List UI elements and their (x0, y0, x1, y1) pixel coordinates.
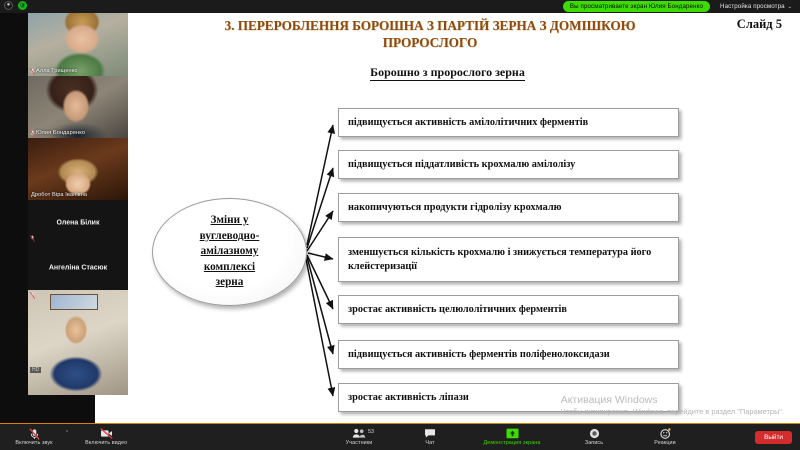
participant-filmstrip[interactable]: Алла Грищенко Юлия Бондаренко Дробот Вір… (28, 13, 128, 395)
record-button[interactable]: Запись (565, 428, 623, 446)
participant-tile[interactable]: Алла Грищенко (28, 13, 128, 76)
shared-slide: 3. ПЕРЕРОБЛЕННЯ БОРОШНА З ПАРТІЙ ЗЕРНА З… (95, 13, 800, 424)
center-node-text: Зміни у вуглеводно- амілазному комплексі… (184, 213, 276, 291)
participants-count: 53 (368, 429, 374, 435)
view-settings-label: Настройка просмотра (720, 3, 785, 10)
reactions-icon (660, 428, 671, 439)
statement-box: зростає активність целюлолітичних фермен… (338, 295, 679, 324)
participant-tile[interactable]: Юлия Бондаренко (28, 76, 128, 138)
mic-muted-icon (30, 292, 35, 299)
record-circle-icon (589, 428, 600, 439)
statement-box-text: підвищується активність амілолітичних фе… (348, 116, 588, 130)
statement-box: накопичуються продукти гідролізу крохмал… (338, 193, 679, 222)
record-label: Запись (585, 440, 603, 446)
meeting-toolbar: Включить звук ⌃ Включить видео (0, 423, 800, 450)
statement-box-text: зменшується кількість крохмалю і знижуєт… (348, 246, 672, 273)
participant-tile[interactable]: Дробот Віра Іванівна (28, 138, 128, 200)
statement-box-text: зростає активність целюлолітичних фермен… (348, 303, 567, 317)
leave-meeting-button[interactable]: Выйти (755, 431, 792, 444)
participants-icon: 53 (352, 428, 366, 439)
record-indicator-icon[interactable]: ⏺ (4, 1, 13, 10)
chat-bubble-icon (424, 428, 436, 439)
center-node-line-2: амілазному (201, 245, 259, 257)
reactions-label: Реакции (654, 440, 676, 446)
participant-name: Алла Грищенко (28, 67, 81, 75)
statement-box-text: підвищується активність ферментів поліфе… (348, 348, 610, 362)
chat-label: Чат (425, 440, 434, 446)
chat-button[interactable]: Чат (401, 428, 459, 446)
reactions-button[interactable]: Реакции (636, 428, 694, 446)
statement-box-text: зростає активність ліпази (348, 391, 469, 405)
participant-name: Ангеліна Стасюк (28, 264, 128, 271)
statement-box: підвищується активність ферментів поліфе… (338, 340, 679, 369)
windows-activation-watermark: Активация Windows Чтобы активировать Win… (561, 394, 784, 416)
mic-muted-icon (30, 130, 35, 137)
camera-muted-icon (100, 428, 113, 439)
participants-button[interactable]: 53 Участники (330, 428, 388, 446)
mic-muted-icon (30, 235, 35, 242)
chevron-down-icon: ⌄ (788, 4, 792, 10)
participant-tile[interactable]: Олена Білик (28, 200, 128, 245)
wall-picture-decoration (50, 294, 98, 310)
participant-name: Олена Білик (28, 219, 128, 226)
viewing-notice: Вы просматриваете экран Юлия Бондаренко (563, 1, 710, 12)
unmute-label: Включить звук (15, 440, 52, 446)
share-screen-icon (506, 428, 519, 439)
share-screen-button[interactable]: Демонстрация экрана (472, 428, 552, 446)
statement-box: підвищується піддатливість крохмалю аміл… (338, 150, 679, 179)
start-video-label: Включить видео (85, 440, 127, 446)
statement-box: підвищується активність амілолітичних фе… (338, 108, 679, 137)
video-quality-badge: HD (30, 367, 41, 373)
participant-tile[interactable]: HD (28, 290, 128, 395)
screen-share-topbar: ⏺ 🛡 Вы просматриваете экран Юлия Бондаре… (0, 0, 800, 13)
watermark-title: Активация Windows (561, 394, 784, 406)
microphone-muted-icon (29, 428, 40, 439)
share-screen-label: Демонстрация экрана (484, 440, 541, 446)
participant-name: Юлия Бондаренко (28, 129, 88, 137)
center-node-line-1: вуглеводно- (200, 230, 260, 242)
topbar-indicators: ⏺ 🛡 (4, 1, 27, 10)
statement-box: зменшується кількість крохмалю і знижуєт… (338, 237, 679, 282)
center-node-oval: Зміни у вуглеводно- амілазному комплексі… (152, 198, 307, 306)
center-node-line-3: комплексі (204, 261, 255, 273)
participant-tile[interactable]: Ангеліна Стасюк (28, 245, 128, 290)
encryption-shield-icon[interactable]: 🛡 (18, 1, 27, 10)
center-node-line-0: Зміни у (211, 214, 249, 226)
audio-options-chevron-icon[interactable]: ⌃ (65, 430, 69, 436)
participants-label: Участники (346, 440, 373, 446)
zoom-meeting-window: ⏺ 🛡 Вы просматриваете экран Юлия Бондаре… (0, 0, 800, 450)
center-node-line-4: зерна (216, 276, 244, 288)
participant-name: Дробот Віра Іванівна (28, 191, 90, 199)
mic-muted-icon (30, 68, 35, 75)
statement-box-text: підвищується піддатливість крохмалю аміл… (348, 158, 575, 172)
statement-box-text: накопичуються продукти гідролізу крохмал… (348, 201, 561, 215)
start-video-button[interactable]: Включить видео (77, 428, 135, 446)
view-settings-button[interactable]: Настройка просмотра⌄ (720, 3, 792, 10)
watermark-subtitle: Чтобы активировать Windows, перейдите в … (561, 407, 784, 416)
unmute-button[interactable]: Включить звук (5, 428, 63, 446)
